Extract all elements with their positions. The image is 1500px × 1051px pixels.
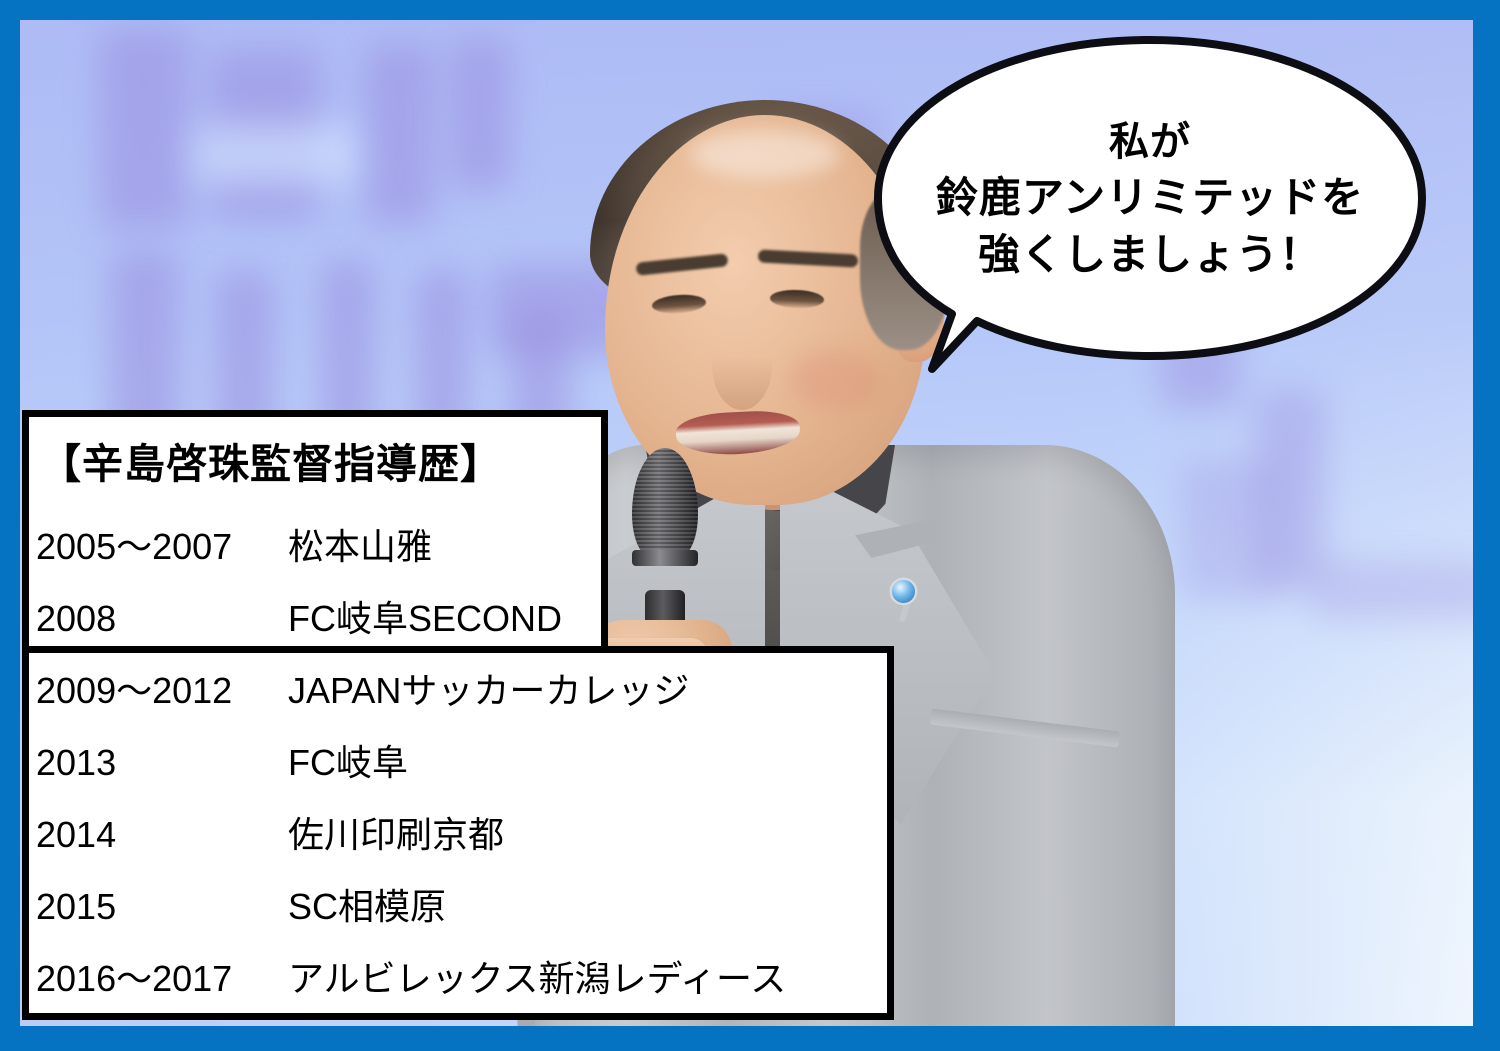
history-club: JAPANサッカーカレッジ bbox=[288, 662, 689, 714]
speech-bubble: 私が 鈴鹿アンリミテッドを 強くしましょう！ bbox=[872, 34, 1428, 384]
coach-history-row: 2009〜2012JAPANサッカーカレッジ bbox=[36, 662, 689, 714]
history-club: FC岐阜SECOND bbox=[288, 590, 562, 642]
coach-history-title: 【辛島啓珠監督指導歴】 bbox=[40, 430, 502, 490]
history-years: 2014 bbox=[36, 814, 288, 856]
background-blur-blob bbox=[1180, 460, 1280, 600]
coach-history-row: 2015SC相模原 bbox=[36, 878, 446, 930]
coach-history-row: 2005〜2007松本山雅 bbox=[36, 518, 432, 570]
history-years: 2005〜2007 bbox=[36, 518, 288, 570]
background-blur-blob bbox=[100, 30, 190, 230]
history-club: FC岐阜 bbox=[288, 734, 408, 786]
coach-history-row: 2008FC岐阜SECOND bbox=[36, 590, 562, 642]
microphone-ring bbox=[632, 550, 698, 566]
history-club: アルビレックス新潟レディース bbox=[288, 950, 786, 1002]
history-years: 2015 bbox=[36, 886, 288, 928]
background-blur-blob bbox=[210, 50, 320, 220]
background-blur-blob bbox=[195, 125, 365, 185]
history-years: 2008 bbox=[36, 598, 288, 640]
speech-bubble-shape bbox=[872, 34, 1428, 384]
history-years: 2016〜2017 bbox=[36, 950, 288, 1002]
hair-highlight bbox=[690, 130, 840, 178]
background-blur-blob bbox=[365, 45, 435, 225]
coach-history-row: 2014佐川印刷京都 bbox=[36, 806, 504, 858]
nose bbox=[712, 320, 772, 410]
coach-history-row: 2013FC岐阜 bbox=[36, 734, 408, 786]
history-years: 2013 bbox=[36, 742, 288, 784]
background-blur-blob bbox=[1255, 390, 1325, 590]
history-club: 佐川印刷京都 bbox=[288, 806, 504, 858]
poster-root: 私が 鈴鹿アンリミテッドを 強くしましょう！ 【辛島啓珠監督指導歴】 2005〜… bbox=[0, 0, 1500, 1051]
background-blur-blob bbox=[1310, 560, 1473, 620]
history-club: 松本山雅 bbox=[288, 518, 432, 570]
history-club: SC相模原 bbox=[288, 878, 446, 930]
coach-history-row: 2016〜2017アルビレックス新潟レディース bbox=[36, 950, 786, 1002]
history-years: 2009〜2012 bbox=[36, 662, 288, 714]
cheek bbox=[790, 350, 880, 410]
lapel-pin-icon bbox=[892, 580, 915, 603]
